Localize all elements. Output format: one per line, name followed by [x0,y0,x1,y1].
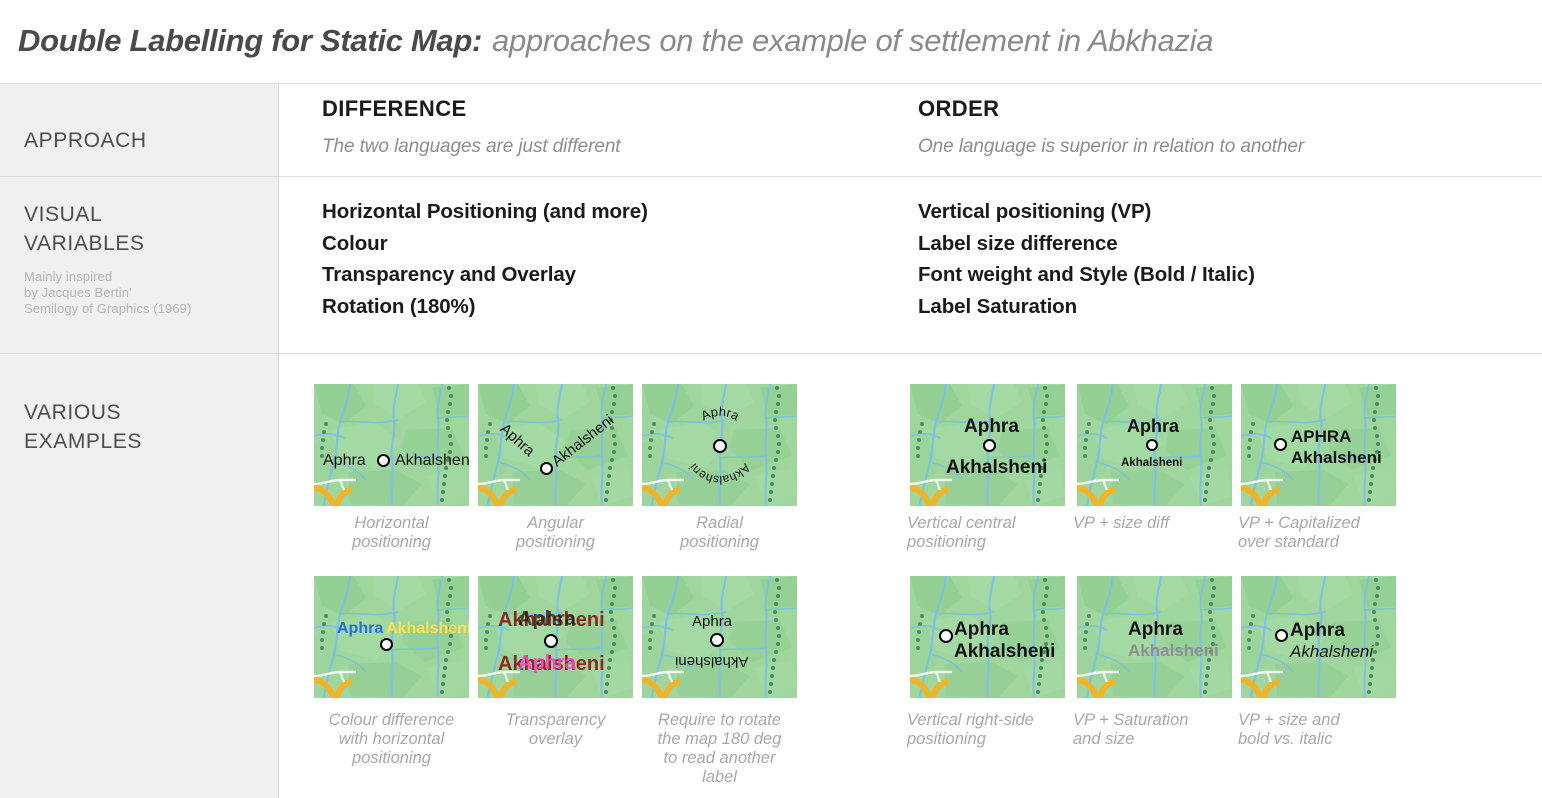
example-thumb-vp-saturation-size[interactable]: Aphra Akhalsheni [1077,576,1232,698]
visual-variables-list-difference: Horizontal Positioning (and more) Colour… [322,196,648,322]
visual-variable-item: Vertical positioning (VP) [918,196,1255,228]
visual-variable-item: Label size difference [918,228,1255,260]
map-settlement-dot [377,454,390,467]
example-caption-vertical-right-side: Vertical right-side positioning [907,711,1072,749]
map-label-akhalsheni: Akhalsheni [1128,642,1219,659]
column-header-order: ORDER One language is superior in relati… [918,96,1304,158]
example-thumb-vp-size-bold-italic[interactable]: Aphra Akhalsheni [1241,576,1396,698]
map-label-aphra-caps: APHRA [1291,428,1351,445]
map-label-akhalsheni: Akhalsheni [946,458,1047,477]
map-settlement-dot [710,633,724,647]
example-thumb-vp-size-diff[interactable]: Aphra Akhalsheni [1077,384,1232,506]
map-label-aphra-radial: Aphra [698,404,742,424]
row-divider-top [0,83,1542,84]
example-caption-rotation-180: Require to rotate the map 180 deg to rea… [637,711,802,787]
example-caption-vp-saturation-size: VP + Saturation and size [1073,711,1238,749]
map-label-akhalsheni: Akhalsheni [1291,449,1382,466]
map-label-akhalsheni-rotated: Akhalsheni [675,654,748,669]
map-settlement-dot [713,439,727,453]
example-thumb-horizontal-positioning[interactable]: Aphra Akhalsheni [314,384,469,506]
map-settlement-dot [1274,438,1287,451]
example-caption-vertical-central: Vertical central positioning [907,514,1072,552]
visual-variable-item: Rotation (180%) [322,291,648,323]
column-heading-difference: DIFFERENCE [322,96,620,122]
map-label-akhalsheni: Akhalsheni [386,621,469,637]
map-settlement-dot [1275,629,1288,642]
map-settlement-dot [1146,439,1158,451]
column-header-difference: DIFFERENCE The two languages are just di… [322,96,620,158]
map-label-aphra: Aphra [692,614,732,629]
example-caption-vp-size-bold-italic: VP + size and bold vs. italic [1238,711,1403,749]
example-caption-radial-positioning: Radial positioning [637,514,802,552]
example-thumb-vertical-central[interactable]: Aphra Akhalsheni [910,384,1065,506]
row-label-visual-variables-line2: VARIABLES [24,229,145,258]
example-thumb-colour-difference[interactable]: Aphra Akhalsheni [314,576,469,698]
row-label-approach: APPROACH [24,126,147,155]
example-caption-angular-positioning: Angular positioning [473,514,638,552]
column-subheading-order: One language is superior in relation to … [918,136,1304,158]
visual-variable-item: Label Saturation [918,291,1255,323]
map-label-akhalsheni: Akhalsheni [1290,643,1373,660]
map-settlement-dot [983,439,996,452]
row-label-approach-text: APPROACH [24,129,147,152]
map-label-aphra: Aphra [323,453,366,469]
map-label-aphra: Aphra [964,417,1019,436]
row-label-various-examples-line1: VARIOUS [24,398,142,427]
map-label-akhalsheni-radial: Akhalsheni [686,461,753,487]
example-thumb-rotation-180[interactable]: Aphra Akhalsheni [642,576,797,698]
visual-variable-item: Font weight and Style (Bold / Italic) [918,259,1255,291]
map-settlement-dot [939,629,953,643]
example-thumb-radial-positioning[interactable]: Aphra Akhalsheni [642,384,797,506]
visual-variable-item: Colour [322,228,648,260]
visual-variable-item: Horizontal Positioning (and more) [322,196,648,228]
map-label-aphra: Aphra [1290,621,1345,640]
map-settlement-dot [544,634,558,648]
svg-text:Aphra: Aphra [698,404,742,424]
page-title-strong: Double Labelling for Static Map: [18,23,482,59]
slide-root: Double Labelling for Static Map: approac… [0,0,1542,798]
map-label-aphra-overlay-top: Aphra [518,609,576,629]
row-divider-examples [0,353,1542,354]
page-title: Double Labelling for Static Map: approac… [0,0,1542,82]
row-label-visual-variables: VISUAL VARIABLES [24,200,145,258]
page-title-rest: approaches on the example of settlement … [492,23,1213,59]
column-subheading-difference: The two languages are just different [322,136,620,158]
example-thumb-vp-capitalized[interactable]: APHRA Akhalsheni [1241,384,1396,506]
row-label-visual-variables-note: Mainly inspired by Jacques Bertin' Semil… [24,269,191,317]
svg-text:Akhalsheni: Akhalsheni [686,461,753,487]
example-thumb-vertical-right-side[interactable]: Aphra Akhalsheni [910,576,1065,698]
example-thumb-angular-positioning[interactable]: Aphra Akhalsheni [478,384,633,506]
visual-variables-list-order: Vertical positioning (VP) Label size dif… [918,196,1255,322]
map-label-aphra-overlay-bottom: Aphra [518,653,576,673]
example-caption-transparency-overlay: Transparency overlay [473,711,638,749]
example-caption-vp-capitalized: VP + Capitalized over standard [1238,514,1403,552]
map-settlement-dot [380,638,393,651]
map-settlement-dot [540,462,553,475]
map-label-aphra: Aphra [1128,620,1183,639]
example-caption-vp-size-diff: VP + size diff [1073,514,1238,533]
map-label-aphra: Aphra [954,620,1009,639]
row-divider-variables [0,176,1542,177]
map-label-akhalsheni: Akhalsheni [1121,458,1182,470]
example-caption-horizontal-positioning: Horizontal positioning [309,514,474,552]
example-caption-colour-difference: Colour difference with horizontal positi… [309,711,474,768]
column-heading-order: ORDER [918,96,1304,122]
row-label-visual-variables-line1: VISUAL [24,200,145,229]
row-label-various-examples: VARIOUS EXAMPLES [24,398,142,456]
row-label-various-examples-line2: EXAMPLES [24,427,142,456]
example-thumb-transparency-overlay[interactable]: Akhalsheni Aphra Akhalsheni Aphra [478,576,633,698]
visual-variable-item: Transparency and Overlay [322,259,648,291]
map-label-aphra: Aphra [337,621,383,637]
map-label-akhalsheni: Akhalsheni [395,453,469,469]
left-column-divider [278,83,279,798]
map-label-akhalsheni: Akhalsheni [954,642,1055,661]
map-label-aphra: Aphra [1127,417,1179,435]
